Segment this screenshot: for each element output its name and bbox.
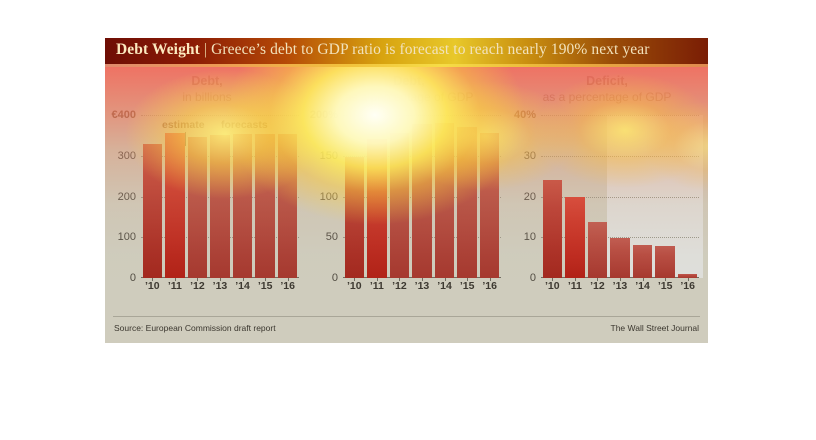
bar <box>565 197 585 278</box>
bar <box>655 246 675 278</box>
panel-title: Debt, <box>109 74 305 88</box>
bar <box>543 180 563 278</box>
chart-panel-1: Debt,as a percentage of GDP050100150200%… <box>311 67 507 325</box>
y-axis-tick-label: 50 <box>326 231 338 243</box>
bar <box>457 127 477 278</box>
panel-title: Deficit, <box>509 74 705 88</box>
x-axis-label: ’16 <box>276 280 299 292</box>
panel-subtitle: as a percentage of GDP <box>311 90 507 104</box>
footer: Source: European Commission draft report… <box>105 314 708 343</box>
bar <box>480 133 500 278</box>
footer-divider <box>113 316 700 317</box>
chart-body: Debt,in billions0100200300€400’10’11’12’… <box>105 67 708 343</box>
bar-series <box>141 115 299 278</box>
x-axis-label: ’11 <box>164 280 187 292</box>
headline-divider: | <box>200 41 211 58</box>
headline: Debt Weight | Greece’s debt to GDP ratio… <box>116 41 650 59</box>
x-axis-label: ’10 <box>343 280 366 292</box>
bar <box>233 134 253 278</box>
estimate-pointer-line <box>185 132 186 146</box>
header-bar: Debt Weight | Greece’s debt to GDP ratio… <box>105 38 708 64</box>
x-axis-labels: ’10’11’12’13’14’15’16 <box>541 280 699 296</box>
y-axis-tick-label: 0 <box>130 272 136 284</box>
bar <box>278 134 298 278</box>
chart-panel-2: Deficit,as a percentage of GDP010203040%… <box>509 67 705 325</box>
infographic-card: Debt Weight | Greece’s debt to GDP ratio… <box>105 38 708 343</box>
publisher-brand: The Wall Street Journal <box>611 323 700 333</box>
y-axis-tick-label: 30 <box>524 150 536 162</box>
bar <box>255 134 275 278</box>
x-axis-label: ’12 <box>586 280 609 292</box>
bar <box>435 123 455 278</box>
bar <box>188 137 208 278</box>
x-axis-label: ’12 <box>186 280 209 292</box>
y-axis-tick-label: 100 <box>320 191 338 203</box>
y-axis-tick-label: 0 <box>332 272 338 284</box>
x-axis-label: ’15 <box>254 280 277 292</box>
plot-area: 010203040% <box>541 115 699 278</box>
x-axis-label: ’10 <box>541 280 564 292</box>
y-axis-tick-label: 200% <box>310 109 338 121</box>
x-axis-label: ’13 <box>609 280 632 292</box>
x-axis-label: ’15 <box>456 280 479 292</box>
headline-text: Greece’s debt to GDP ratio is forecast t… <box>211 41 649 58</box>
panel-title: Debt, <box>311 74 507 88</box>
y-axis-tick-label: 40% <box>514 109 536 121</box>
bar <box>210 135 230 278</box>
chart-panel-0: Debt,in billions0100200300€400’10’11’12’… <box>109 67 305 325</box>
panel-subtitle: as a percentage of GDP <box>509 90 705 104</box>
plot-area: 0100200300€400 <box>141 115 299 278</box>
panel-subtitle: in billions <box>109 90 305 104</box>
bar <box>165 133 185 278</box>
x-axis-label: ’12 <box>388 280 411 292</box>
x-axis-label: ’11 <box>564 280 587 292</box>
x-axis-label: ’11 <box>366 280 389 292</box>
x-axis-label: ’15 <box>654 280 677 292</box>
forecasts-annotation: forecasts <box>221 119 268 131</box>
estimate-annotation: estimate <box>162 119 205 131</box>
panel-container: Debt,in billions0100200300€400’10’11’12’… <box>105 67 708 343</box>
x-axis-label: ’10 <box>141 280 164 292</box>
x-axis-labels: ’10’11’12’13’14’15’16 <box>141 280 299 296</box>
y-axis-tick-label: 300 <box>118 150 136 162</box>
bar <box>412 124 432 278</box>
y-axis-tick-label: €400 <box>112 109 136 121</box>
x-axis-label: ’13 <box>209 280 232 292</box>
bar <box>143 144 163 278</box>
y-axis-tick-label: 20 <box>524 191 536 203</box>
y-axis-tick-label: 10 <box>524 231 536 243</box>
bar <box>367 139 387 278</box>
x-axis-label: ’14 <box>433 280 456 292</box>
x-axis-label: ’14 <box>231 280 254 292</box>
y-axis-tick-label: 150 <box>320 150 338 162</box>
bar <box>588 222 608 278</box>
y-axis-tick-label: 200 <box>118 191 136 203</box>
x-axis-label: ’16 <box>478 280 501 292</box>
x-axis-label: ’13 <box>411 280 434 292</box>
bar-series <box>343 115 501 278</box>
bar <box>633 245 653 278</box>
x-axis-label: ’16 <box>676 280 699 292</box>
y-axis-tick-label: 100 <box>118 231 136 243</box>
bar <box>345 157 365 278</box>
bar <box>678 274 698 278</box>
x-axis-label: ’14 <box>631 280 654 292</box>
bar <box>610 238 630 278</box>
headline-kicker: Debt Weight <box>116 41 200 58</box>
bar <box>390 133 410 278</box>
source-credit: Source: European Commission draft report <box>114 323 276 333</box>
y-axis-tick-label: 0 <box>530 272 536 284</box>
bar-series <box>541 115 699 278</box>
plot-area: 050100150200% <box>343 115 501 278</box>
x-axis-labels: ’10’11’12’13’14’15’16 <box>343 280 501 296</box>
